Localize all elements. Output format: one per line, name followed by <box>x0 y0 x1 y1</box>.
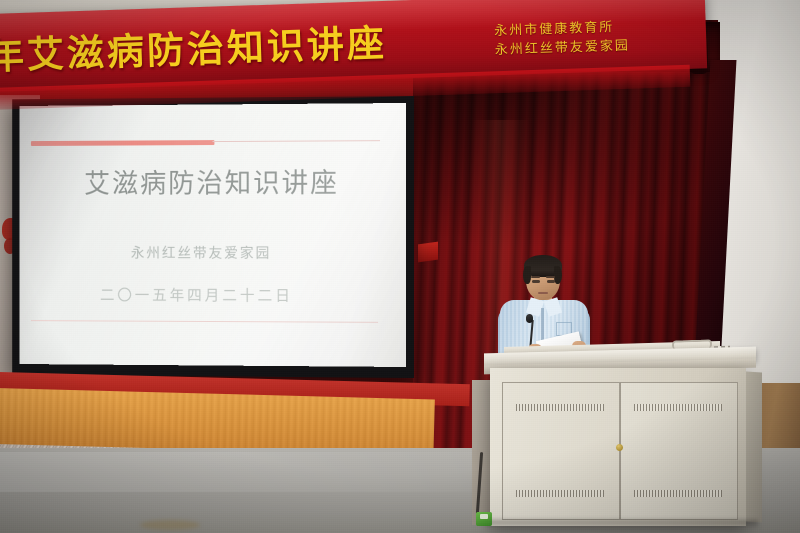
curtain-red-sash <box>418 242 438 263</box>
banner-organizers: 永州市健康教育所 永州红丝带友爱家园 <box>494 15 705 60</box>
microphone-icon <box>526 314 533 323</box>
floor-mark <box>140 520 200 530</box>
podium-door-right[interactable] <box>620 382 738 520</box>
podium-vent-top-right <box>634 404 722 411</box>
slide-accent-line <box>212 140 380 142</box>
green-floor-object-highlight <box>480 514 488 519</box>
slide-date: 二〇一五年四月二十二日 <box>19 284 376 306</box>
podium-vent-bottom-right <box>634 490 722 497</box>
photo-scene: 艾滋病防治知识讲座 永州红丝带友爱家园 二〇一五年四月二十二日 年艾滋病防治知识… <box>0 0 800 533</box>
podium-vent-top-left <box>516 404 604 411</box>
speaker-hair-left <box>523 266 531 284</box>
projection-screen: 艾滋病防治知识讲座 永州红丝带友爱家园 二〇一五年四月二十二日 <box>19 103 406 367</box>
speaker-eyebrow-left <box>531 276 540 278</box>
podium-vent-bottom-left <box>516 490 604 497</box>
podium-side-panel <box>746 371 762 522</box>
slide-title: 艾滋病防治知识讲座 <box>19 161 406 201</box>
speaker-eye-left <box>532 280 540 283</box>
slide-accent-bar <box>31 140 215 146</box>
speaker-eyebrow-right <box>546 276 555 278</box>
speaker-mouth <box>538 292 548 294</box>
slide-bottom-rule <box>31 320 378 323</box>
podium-shadow <box>486 520 758 529</box>
slide-subtitle: 永州红丝带友爱家园 <box>19 243 386 263</box>
speaker-hair-right <box>554 266 562 284</box>
speaker-eye-right <box>547 280 555 283</box>
podium-door-left[interactable] <box>502 382 620 520</box>
podium-lock-icon[interactable] <box>616 444 623 451</box>
